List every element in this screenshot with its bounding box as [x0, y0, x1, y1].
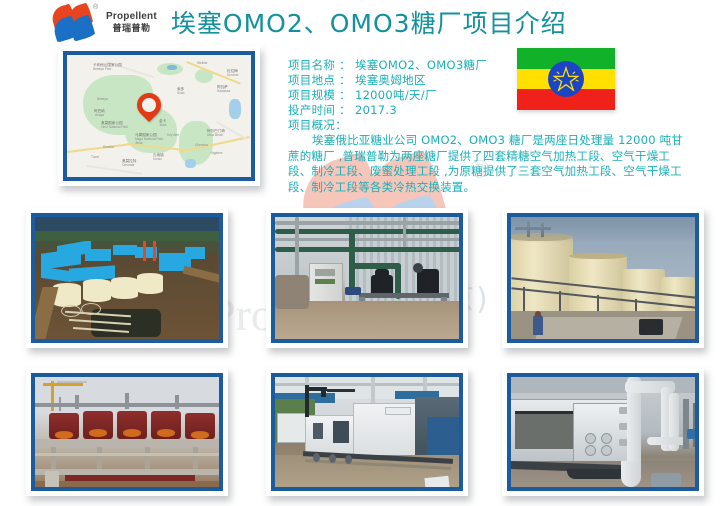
- photo-frame-stainless-ahu: [502, 368, 704, 496]
- brand-name: Propellent 普瑞普勒: [106, 11, 157, 33]
- info-row-scale: 项目规模 ： 12000吨/天/厂: [288, 88, 688, 103]
- page-title: 埃塞OMO2、OMO3糖厂项目介绍: [171, 4, 567, 40]
- info-row-startup: 投产时间 ： 2017.3: [288, 103, 688, 118]
- photo-stainless-ahu[interactable]: [511, 377, 695, 487]
- info-colon: ：: [339, 103, 351, 117]
- brand-name-cn: 普瑞普勒: [106, 23, 157, 33]
- info-label-name: 项目名称: [288, 58, 335, 72]
- photo-frame-air-handling-unit: [266, 368, 468, 496]
- photo-pump-station[interactable]: [275, 217, 459, 339]
- brand-name-en: Propellent: [106, 11, 157, 23]
- info-summary-label: 项目概况：: [288, 118, 688, 133]
- info-label-location: 项目地点: [288, 73, 335, 87]
- photo-aerial-sugar-plant[interactable]: [35, 217, 219, 339]
- map-frame-inner: 卡布他山国家公园 Bebeya Park Bebeya 阿巴纳 Abaya 奥莫…: [63, 51, 255, 181]
- info-colon: ：: [339, 73, 351, 87]
- flag-star-icon: [553, 66, 579, 92]
- photo-storage-tanks[interactable]: [511, 217, 695, 339]
- photo-air-handling-unit[interactable]: [275, 377, 459, 487]
- project-info-block: 项目名称 ： 埃塞OMO2、OMO3糖厂 项目地点 ： 埃塞奥姆地区 项目规模 …: [288, 58, 688, 195]
- project-introduction-page: ® Pro 普瑞普勒(北京) ® Propellent 普瑞普勒 埃塞OMO2、…: [0, 0, 720, 506]
- logo-petal-blue-2: [71, 17, 93, 39]
- info-row-location: 项目地点 ： 埃塞奥姆地区: [288, 73, 688, 88]
- project-location-map[interactable]: 卡布他山国家公园 Bebeya Park Bebeya 阿巴纳 Abaya 奥莫…: [67, 55, 251, 177]
- info-colon: ：: [339, 88, 351, 102]
- photo-frame-aerial-sugar-plant: [26, 208, 228, 348]
- page-header: ® Propellent 普瑞普勒 埃塞OMO2、OMO3糖厂项目介绍: [0, 0, 720, 44]
- map-frame: 卡布他山国家公园 Bebeya Park Bebeya 阿巴纳 Abaya 奥莫…: [58, 46, 260, 186]
- registered-mark-icon: ®: [93, 4, 98, 11]
- info-row-name: 项目名称 ： 埃塞OMO2、OMO3糖厂: [288, 58, 688, 73]
- ethiopia-flag: [517, 48, 615, 110]
- info-colon: ：: [339, 58, 351, 72]
- info-value-name: 埃塞OMO2、OMO3糖厂: [355, 58, 487, 72]
- propellent-logo: ®: [52, 5, 100, 39]
- photo-vessel-platform[interactable]: [35, 377, 219, 487]
- photo-frame-storage-tanks: [502, 208, 704, 348]
- info-label-scale: 项目规模: [288, 88, 335, 102]
- info-summary-text: 埃塞俄比亚糖业公司 OMO2、OMO3 糖厂是两座日处理量 12000 吨甘蔗的…: [288, 133, 684, 195]
- photo-frame-pump-station: [266, 208, 468, 348]
- photo-frame-vessel-platform: [26, 368, 228, 496]
- info-value-location: 埃塞奥姆地区: [355, 73, 426, 87]
- info-label-startup: 投产时间: [288, 103, 335, 117]
- info-value-startup: 2017.3: [355, 103, 397, 117]
- info-value-scale: 12000吨/天/厂: [355, 88, 437, 102]
